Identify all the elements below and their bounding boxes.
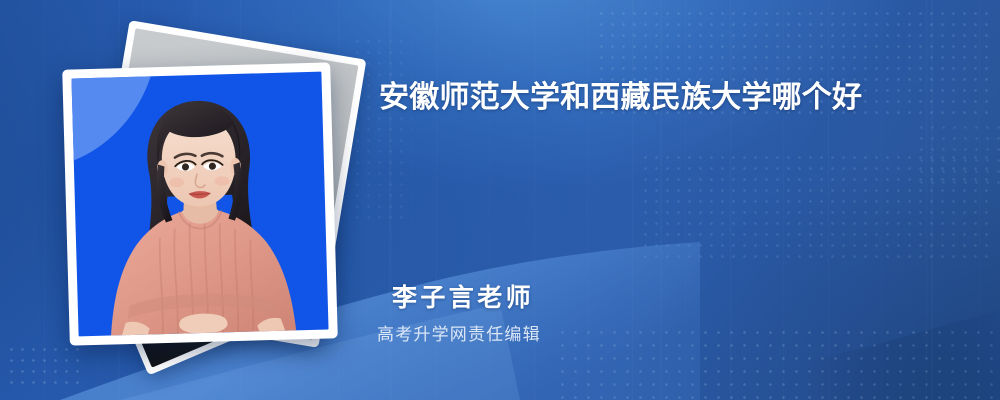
dot-grid-pattern xyxy=(916,122,1000,186)
portrait-illustration xyxy=(71,72,328,337)
page-title: 安徽师范大学和西藏民族大学哪个好 xyxy=(379,74,975,123)
photo-card-front xyxy=(62,62,338,345)
article-banner: 安徽师范大学和西藏民族大学哪个好 李子言老师 高考升学网责任编辑 xyxy=(0,0,1000,400)
author-role: 高考升学网责任编辑 xyxy=(377,320,541,345)
photo-card-stack xyxy=(48,30,348,370)
author-portrait-photo xyxy=(71,72,328,337)
author-name: 李子言老师 xyxy=(392,278,534,314)
